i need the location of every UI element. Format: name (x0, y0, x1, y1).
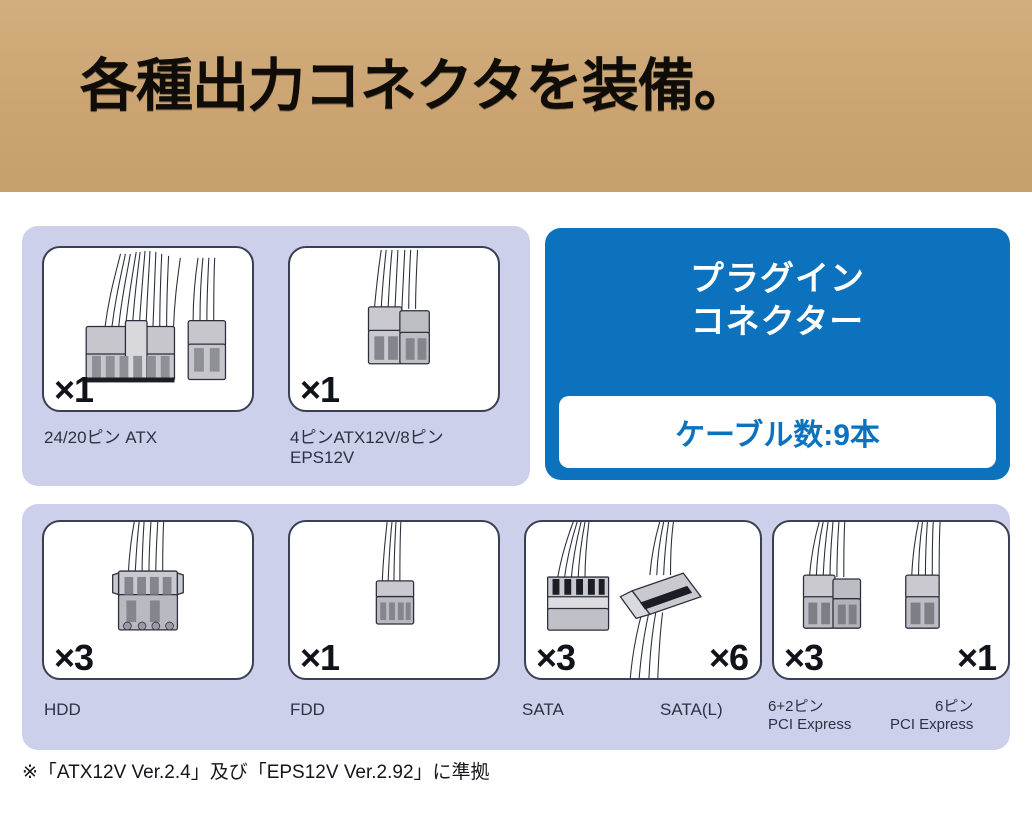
caption-eps12v: 4ピンATX12V/8ピン EPS12V (290, 428, 444, 468)
quantity-pcie-6: ×1 (957, 640, 996, 676)
connector-card-pcie: ×3 ×1 (772, 520, 1010, 680)
cable-count-panel: ケーブル数:9本 (559, 396, 996, 468)
caption-atx: 24/20ピン ATX (44, 428, 157, 448)
plugin-connector-box: プラグイン コネクター ケーブル数:9本 (545, 228, 1010, 480)
caption-pcie-6: 6ピン PCI Express (890, 698, 973, 733)
quantity-sata-l: ×6 (709, 640, 748, 676)
footnote-standards: ※「ATX12V Ver.2.4」及び「EPS12V Ver.2.92」に準拠 (22, 757, 490, 784)
quantity-fdd: ×1 (300, 640, 339, 676)
connector-card-atx: ×1 (42, 246, 254, 412)
quantity-atx: ×1 (54, 372, 93, 408)
page-title: 各種出力コネクタを装備。 (80, 58, 750, 115)
quantity-pcie-6plus2: ×3 (784, 640, 823, 676)
caption-sata-l: SATA(L) (660, 700, 723, 720)
header-band: 各種出力コネクタを装備。 (0, 0, 1032, 192)
quantity-sata: ×3 (536, 640, 575, 676)
connector-card-hdd: ×3 (42, 520, 254, 680)
caption-pcie-6plus2: 6+2ピン PCI Express (768, 698, 851, 733)
caption-fdd: FDD (290, 700, 325, 720)
quantity-eps12v: ×1 (300, 372, 339, 408)
connector-card-eps12v: ×1 (288, 246, 500, 412)
caption-hdd: HDD (44, 700, 81, 720)
quantity-hdd: ×3 (54, 640, 93, 676)
plugin-connector-title: プラグイン コネクター (559, 258, 996, 343)
cable-count-label: ケーブル数:9本 (675, 410, 880, 454)
connector-card-fdd: ×1 (288, 520, 500, 680)
connector-card-sata: ×3 ×6 (524, 520, 762, 680)
caption-sata: SATA (522, 700, 564, 720)
